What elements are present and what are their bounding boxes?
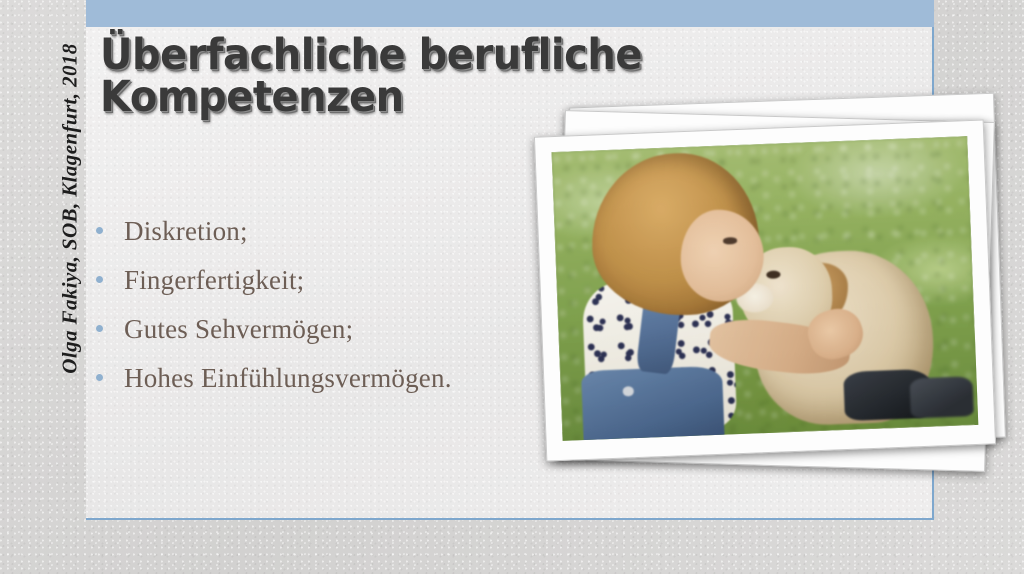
list-item: Hohes Einfühlungsvermögen. — [96, 363, 566, 412]
list-item-label: Hohes Einfühlungsvermögen. — [124, 363, 452, 394]
accent-top-bar — [86, 0, 934, 27]
photo-child-eye — [723, 238, 737, 245]
photo-child-dungarees — [581, 365, 725, 441]
list-item-label: Fingerfertigkeit; — [124, 265, 304, 296]
list-item: Diskretion; — [96, 216, 566, 265]
bullet-dot-icon — [96, 374, 103, 381]
photo-boot-secondary — [910, 376, 974, 419]
list-item: Fingerfertigkeit; — [96, 265, 566, 314]
author-credit-vertical: Olga Fakiya, SOB, Klagenfurt, 2018 — [58, 0, 83, 419]
photo-child-with-puppy — [552, 136, 979, 441]
list-item-label: Diskretion; — [124, 216, 248, 247]
bullet-list: Diskretion; Fingerfertigkeit; Gutes Sehv… — [96, 216, 566, 412]
photo-frame-front — [534, 119, 996, 461]
page-title-line-1: Überfachliche berufliche — [100, 34, 621, 76]
list-item-label: Gutes Sehvermögen; — [124, 314, 353, 345]
list-item: Gutes Sehvermögen; — [96, 314, 566, 363]
photo-stack — [530, 88, 1020, 478]
slide-canvas: Olga Fakiya, SOB, Klagenfurt, 2018 Überf… — [0, 0, 1024, 574]
bullet-dot-icon — [96, 325, 103, 332]
bullet-dot-icon — [96, 276, 103, 283]
bullet-dot-icon — [96, 227, 103, 234]
